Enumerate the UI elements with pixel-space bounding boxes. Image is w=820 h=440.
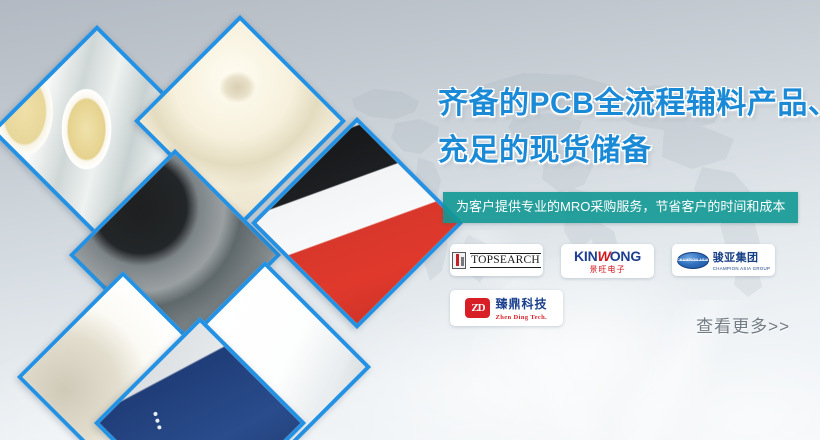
topsearch-mark-icon [452,252,466,269]
view-more-link[interactable]: 查看更多>> [696,312,790,337]
zhen-ding-monogram-icon: ZD [465,298,490,318]
banner-subtitle-text: 为客户提供专业的MRO采购服务，节省客户的时间和成本 [456,199,785,214]
zhen-ding-name-en: Zhen Ding Tech. [495,314,547,321]
kinwong-wordmark: KINWONG [574,248,641,264]
kinwong-word-part2: ONG [610,248,641,264]
partner-logo-champion-asia[interactable]: CHAMPION ASIA 骏亚集团 CHAMPION ASIA GROUP [672,244,775,276]
kinwong-word-w: W [598,248,610,264]
partner-logo-kinwong[interactable]: KINWONG 景旺电子 [561,244,654,278]
headline-line-2: 充足的现货储备 [438,127,820,174]
champion-asia-name-cn: 骏亚集团 [713,249,770,265]
headline-line-1: 齐备的PCB全流程辅料产品、 [438,87,820,120]
kinwong-subtitle-cn: 景旺电子 [574,266,641,274]
promo-banner: JIE 齐备的PCB全流程辅料产品、 充足的现货储备 为客户提供专业的MRO采购… [0,0,820,440]
product-collage: JIE [0,0,420,440]
partner-logo-topsearch[interactable]: TOPSEARCH [450,244,543,276]
banner-subtitle-bar: 为客户提供专业的MRO采购服务，节省客户的时间和成本 [443,192,798,223]
globe-icon-text: CHAMPION ASIA [677,258,709,262]
champion-asia-name-en: CHAMPION ASIA GROUP [713,267,770,271]
partner-logo-row-1: TOPSEARCH KINWONG 景旺电子 CHAMPION ASIA [432,244,820,278]
kinwong-word-part1: KIN [574,248,598,264]
banner-headline: 齐备的PCB全流程辅料产品、 充足的现货储备 [438,80,820,174]
zhen-ding-name-cn: 臻鼎科技 [495,295,547,312]
globe-icon: CHAMPION ASIA [677,252,709,269]
zhen-ding-monogram-text: ZD [471,302,484,314]
topsearch-wordmark: TOPSEARCH [470,253,541,268]
partner-logo-zhen-ding[interactable]: ZD 臻鼎科技 Zhen Ding Tech. [450,290,563,326]
banner-content: 齐备的PCB全流程辅料产品、 充足的现货储备 为客户提供专业的MRO采购服务，节… [432,0,820,440]
sheet-dots-decor [148,408,162,433]
